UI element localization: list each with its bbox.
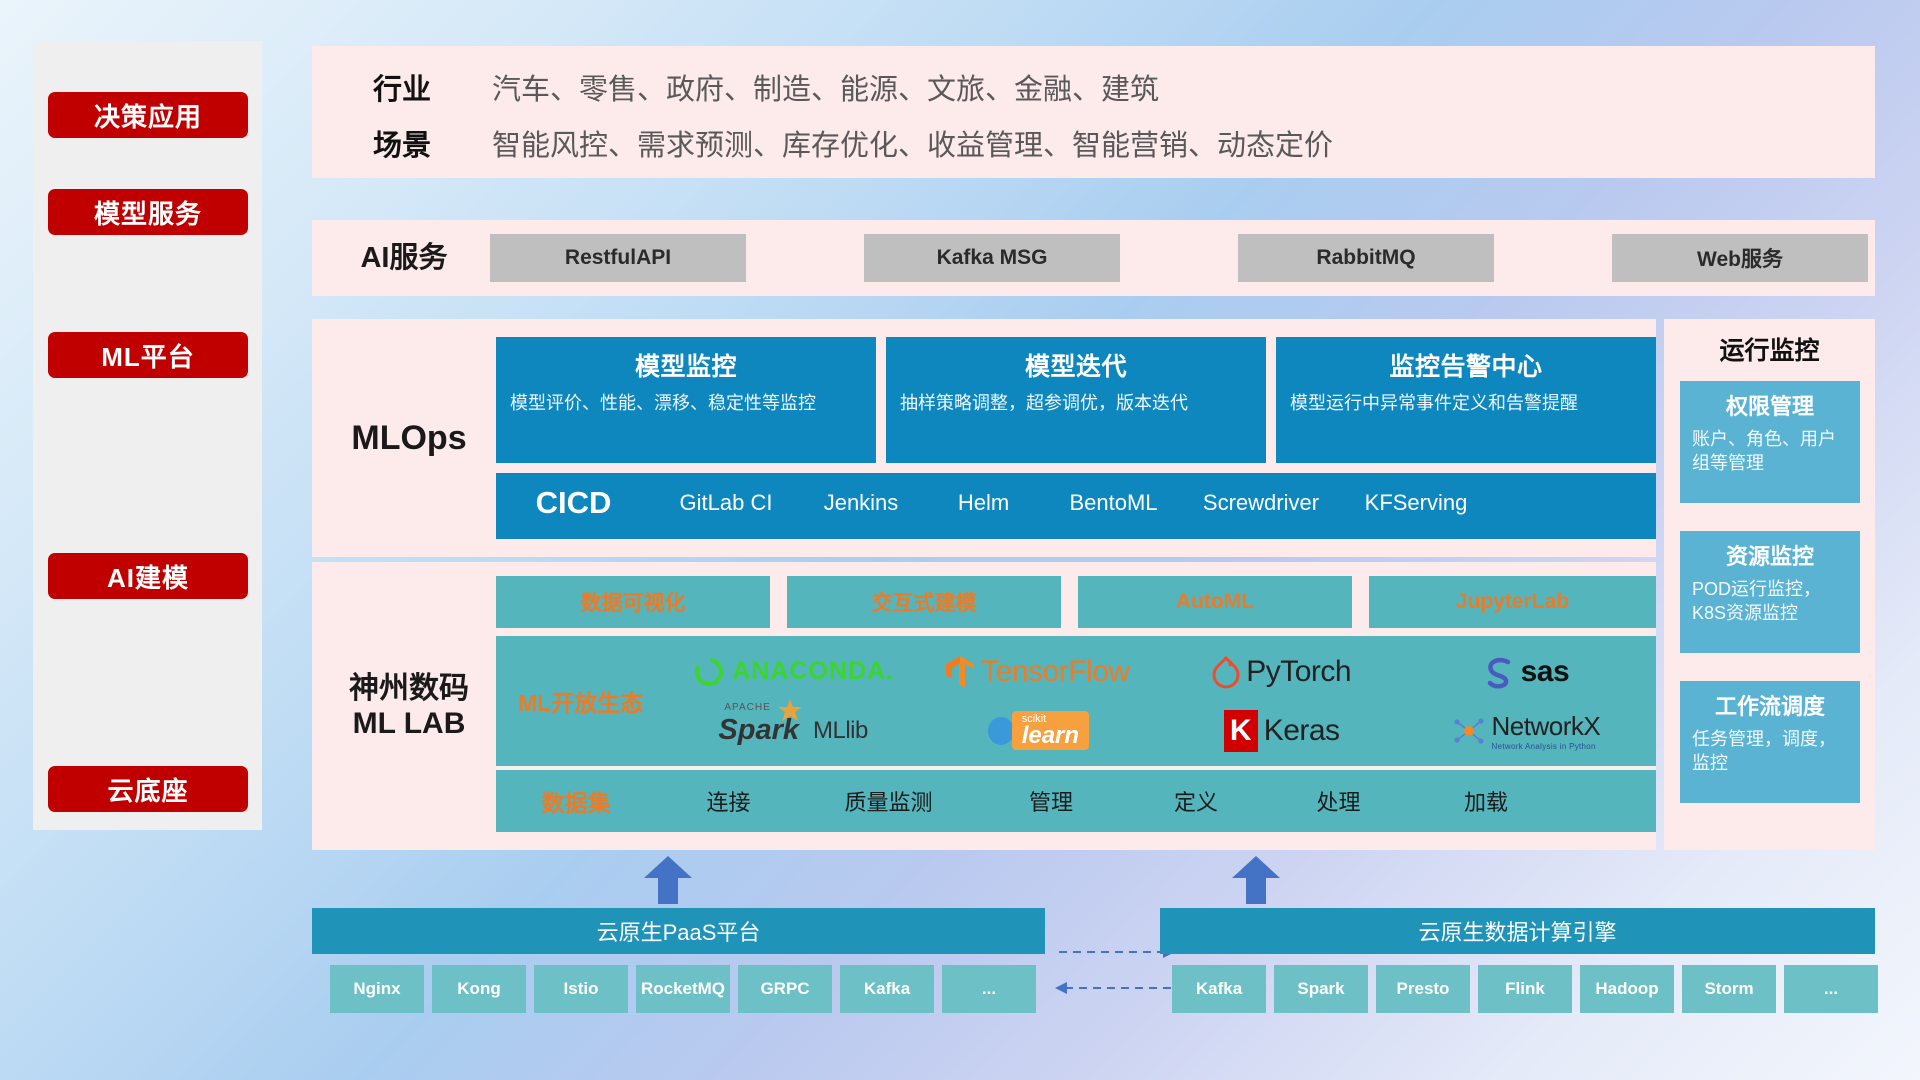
- tag-label: Hadoop: [1595, 979, 1658, 999]
- tag-more-left[interactable]: ...: [942, 965, 1036, 1013]
- cloud-bar-label: 云原生PaaS平台: [597, 915, 761, 947]
- card-desc: 账户、角色、用户组等管理: [1692, 427, 1848, 475]
- tool-pill-jupyterlab[interactable]: JupyterLab: [1369, 576, 1656, 628]
- dataset-item-label: 管理: [1029, 790, 1073, 815]
- tag-label: Presto: [1397, 979, 1450, 999]
- tag-flink[interactable]: Flink: [1478, 965, 1572, 1013]
- spark-apache-label: APACHE: [724, 702, 770, 713]
- layer-chip-label: AI建模: [107, 558, 189, 595]
- monitoring-card-workflow[interactable]: 工作流调度 任务管理，调度，监控: [1680, 681, 1860, 803]
- mlops-card-model-monitoring[interactable]: 模型监控 模型评价、性能、漂移、稳定性等监控: [496, 337, 876, 463]
- tag-spark[interactable]: Spark: [1274, 965, 1368, 1013]
- cicd-item-screwdriver[interactable]: Screwdriver: [1181, 473, 1341, 517]
- dataset-item-label: 连接: [706, 790, 750, 815]
- networkx-icon: [1452, 714, 1486, 748]
- tag-label: Nginx: [353, 979, 400, 999]
- dataset-item-process[interactable]: 处理: [1266, 785, 1411, 817]
- tool-pill-data-visualization[interactable]: 数据可视化: [496, 576, 770, 628]
- cicd-item-bentoml[interactable]: BentoML: [1046, 473, 1181, 517]
- runtime-monitoring-title: 运行监控: [1664, 331, 1875, 367]
- cloud-bar-compute-engine[interactable]: 云原生数据计算引擎: [1160, 908, 1875, 954]
- tag-grpc[interactable]: GRPC: [738, 965, 832, 1013]
- card-desc: 模型运行中异常事件定义和告警提醒: [1290, 391, 1642, 415]
- tag-rocketmq[interactable]: RocketMQ: [636, 965, 730, 1013]
- cicd-item-gitlab-ci[interactable]: GitLab CI: [651, 473, 801, 517]
- tag-label: Storm: [1704, 979, 1753, 999]
- ml-ecosystem-block: ML开放生态 ANACONDA. TensorFlow: [496, 636, 1656, 766]
- cicd-item-label: BentoML: [1069, 490, 1157, 515]
- tag-kong[interactable]: Kong: [432, 965, 526, 1013]
- mlops-label: MLOps: [324, 319, 494, 557]
- arrow-up-paas-icon: [642, 856, 694, 904]
- pill-label: RabbitMQ: [1316, 246, 1415, 270]
- ai-service-label: AI服务: [334, 220, 474, 296]
- anaconda-logo[interactable]: ANACONDA.: [692, 655, 894, 689]
- mllab-label-line1: 神州数码: [349, 671, 469, 706]
- dataset-item-load[interactable]: 加载: [1411, 785, 1561, 817]
- decision-app-band: 行业 汽车、零售、政府、制造、能源、文旅、金融、建筑 场景 智能风控、需求预测、…: [312, 46, 1875, 178]
- tag-label: Kong: [457, 979, 500, 999]
- ai-service-band: AI服务 RestfulAPI Kafka MSG RabbitMQ Web服务: [312, 220, 1875, 296]
- keras-mark-icon: K: [1224, 710, 1258, 752]
- dataset-item-quality-monitor[interactable]: 质量监测: [801, 785, 976, 817]
- tag-label: RocketMQ: [641, 979, 725, 999]
- scikit-orange-blob: scikit learn: [1012, 711, 1089, 751]
- pill-label: AutoML: [1176, 590, 1254, 614]
- pill-label: RestfulAPI: [565, 246, 671, 270]
- tag-storm[interactable]: Storm: [1682, 965, 1776, 1013]
- card-desc: 抽样策略调整，超参调优，版本迭代: [900, 391, 1252, 415]
- tool-pill-interactive-modeling[interactable]: 交互式建模: [787, 576, 1061, 628]
- mllib-wordmark: MLlib: [813, 717, 868, 745]
- dataset-item-label: 处理: [1316, 790, 1360, 815]
- card-desc: 模型评价、性能、漂移、稳定性等监控: [510, 391, 862, 415]
- pill-label: 交互式建模: [872, 587, 977, 617]
- keras-logo[interactable]: K Keras: [1224, 710, 1340, 752]
- tag-label: Kafka: [1196, 979, 1242, 999]
- tensorflow-wordmark: TensorFlow: [981, 655, 1129, 689]
- layer-chip-cloud-base[interactable]: 云底座: [48, 766, 248, 812]
- layer-chip-decision-app[interactable]: 决策应用: [48, 92, 248, 138]
- tag-label: Flink: [1505, 979, 1545, 999]
- cloud-bar-label: 云原生数据计算引擎: [1418, 915, 1616, 947]
- industry-value: 汽车、零售、政府、制造、能源、文旅、金融、建筑: [492, 66, 1855, 108]
- dataset-item-define[interactable]: 定义: [1126, 785, 1266, 817]
- card-desc: POD运行监控，K8S资源监控: [1692, 577, 1848, 625]
- layer-chip-ai-modeling[interactable]: AI建模: [48, 553, 248, 599]
- layer-chip-ml-platform[interactable]: ML平台: [48, 332, 248, 378]
- mllab-label: 神州数码 ML LAB: [320, 562, 498, 850]
- tag-kafka-right[interactable]: Kafka: [1172, 965, 1266, 1013]
- service-pill-rabbitmq[interactable]: RabbitMQ: [1238, 234, 1494, 282]
- card-title: 权限管理: [1692, 389, 1848, 421]
- tag-istio[interactable]: Istio: [534, 965, 628, 1013]
- layer-chip-label: ML平台: [101, 337, 195, 374]
- card-desc: 任务管理，调度，监控: [1692, 727, 1848, 775]
- anaconda-icon: [692, 655, 726, 689]
- service-pill-web-service[interactable]: Web服务: [1612, 234, 1868, 282]
- sas-icon: [1483, 655, 1515, 689]
- dataset-item-manage[interactable]: 管理: [976, 785, 1126, 817]
- dataset-title: 数据集: [496, 784, 656, 818]
- tag-label: Kafka: [864, 979, 910, 999]
- tag-hadoop[interactable]: Hadoop: [1580, 965, 1674, 1013]
- pill-label: JupyterLab: [1456, 590, 1569, 614]
- scikit-learn-logo[interactable]: scikit learn: [986, 711, 1089, 751]
- tag-nginx[interactable]: Nginx: [330, 965, 424, 1013]
- sas-wordmark: sas: [1521, 655, 1570, 689]
- mlops-band: MLOps 模型监控 模型评价、性能、漂移、稳定性等监控 模型迭代 抽样策略调整…: [312, 319, 1656, 557]
- tag-label: ...: [1824, 979, 1838, 999]
- cicd-strip: CICD GitLab CI Jenkins Helm BentoML Scre…: [496, 473, 1656, 539]
- pytorch-icon: [1212, 655, 1240, 689]
- service-pill-kafka-msg[interactable]: Kafka MSG: [864, 234, 1120, 282]
- tag-label: GRPC: [760, 979, 809, 999]
- scenario-value: 智能风控、需求预测、库存优化、收益管理、智能营销、动态定价: [492, 122, 1855, 164]
- dataset-item-label: 质量监测: [844, 790, 932, 815]
- bidirectional-dashed-arrows-icon: [1055, 940, 1175, 1000]
- card-title: 模型迭代: [900, 347, 1252, 383]
- layer-chip-model-service[interactable]: 模型服务: [48, 189, 248, 235]
- pill-label: Kafka MSG: [937, 246, 1048, 270]
- layer-chip-label: 模型服务: [94, 194, 202, 231]
- sas-logo[interactable]: sas: [1483, 655, 1570, 689]
- mlops-card-model-iteration[interactable]: 模型迭代 抽样策略调整，超参调优，版本迭代: [886, 337, 1266, 463]
- networkx-wordmark: NetworkX: [1492, 711, 1601, 742]
- dataset-row: 数据集 连接 质量监测 管理 定义 处理 加载: [496, 770, 1656, 832]
- dataset-item-connect[interactable]: 连接: [656, 785, 801, 817]
- arrow-up-compute-icon: [1230, 856, 1282, 904]
- layer-chip-label: 云底座: [107, 771, 188, 808]
- card-title: 工作流调度: [1692, 689, 1848, 721]
- cicd-item-helm[interactable]: Helm: [921, 473, 1046, 517]
- spark-star-icon: [777, 698, 803, 724]
- tool-pill-automl[interactable]: AutoML: [1078, 576, 1352, 628]
- dataset-item-label: 加载: [1464, 790, 1508, 815]
- tag-label: ...: [982, 979, 996, 999]
- cicd-item-label: Screwdriver: [1203, 490, 1319, 515]
- spark-mllib-logo[interactable]: APACHE Spark MLlib: [718, 714, 867, 747]
- architecture-diagram: 决策应用 模型服务 ML平台 AI建模 云底座 行业 汽车、零售、政府、制造、能…: [0, 0, 1920, 1080]
- mlops-card-alert-center[interactable]: 监控告警中心 模型运行中异常事件定义和告警提醒: [1276, 337, 1656, 463]
- cicd-item-label: Helm: [958, 490, 1009, 515]
- monitoring-card-permission[interactable]: 权限管理 账户、角色、用户组等管理: [1680, 381, 1860, 503]
- networkx-logo[interactable]: NetworkX Network Analysis in Python: [1452, 711, 1601, 751]
- dataset-item-label: 定义: [1174, 790, 1218, 815]
- pytorch-logo[interactable]: PyTorch: [1212, 655, 1351, 689]
- mllab-label-line2: ML LAB: [353, 706, 466, 741]
- networkx-tagline: Network Analysis in Python: [1492, 742, 1596, 751]
- tag-label: Istio: [564, 979, 599, 999]
- tag-kafka-left[interactable]: Kafka: [840, 965, 934, 1013]
- cicd-item-jenkins[interactable]: Jenkins: [801, 473, 921, 517]
- industry-label: 行业: [342, 66, 462, 108]
- layer-chip-label: 决策应用: [94, 97, 202, 134]
- card-title: 模型监控: [510, 347, 862, 383]
- card-title: 资源监控: [1692, 539, 1848, 571]
- cicd-title: CICD: [496, 473, 651, 521]
- service-pill-restfulapi[interactable]: RestfulAPI: [490, 234, 746, 282]
- ecosystem-logo-grid: ANACONDA. TensorFlow PyTorch: [671, 642, 1648, 760]
- tensorflow-icon: [945, 655, 975, 689]
- tag-label: Spark: [1297, 979, 1344, 999]
- tag-more-right[interactable]: ...: [1784, 965, 1878, 1013]
- learn-wordmark: learn: [1022, 725, 1079, 747]
- card-title: 监控告警中心: [1290, 347, 1642, 383]
- layer-rail: [33, 41, 262, 830]
- mllab-band: 神州数码 ML LAB 数据可视化 交互式建模 AutoML JupyterLa…: [312, 562, 1656, 850]
- keras-wordmark: Keras: [1264, 714, 1340, 748]
- monitoring-card-resource[interactable]: 资源监控 POD运行监控，K8S资源监控: [1680, 531, 1860, 653]
- pytorch-wordmark: PyTorch: [1246, 655, 1351, 689]
- scenario-label: 场景: [342, 122, 462, 164]
- tag-presto[interactable]: Presto: [1376, 965, 1470, 1013]
- cloud-bar-paas[interactable]: 云原生PaaS平台: [312, 908, 1045, 954]
- cicd-item-label: Jenkins: [824, 490, 899, 515]
- cicd-item-label: KFServing: [1365, 490, 1468, 515]
- runtime-monitoring-panel: 运行监控 权限管理 账户、角色、用户组等管理 资源监控 POD运行监控，K8S资…: [1664, 319, 1875, 850]
- cicd-item-kfserving[interactable]: KFServing: [1341, 473, 1491, 517]
- pill-label: 数据可视化: [581, 587, 686, 617]
- ml-ecosystem-label: ML开放生态: [518, 684, 643, 718]
- cicd-item-label: GitLab CI: [680, 490, 773, 515]
- tensorflow-logo[interactable]: TensorFlow: [945, 655, 1129, 689]
- pill-label: Web服务: [1697, 243, 1783, 273]
- anaconda-wordmark: ANACONDA.: [732, 657, 894, 686]
